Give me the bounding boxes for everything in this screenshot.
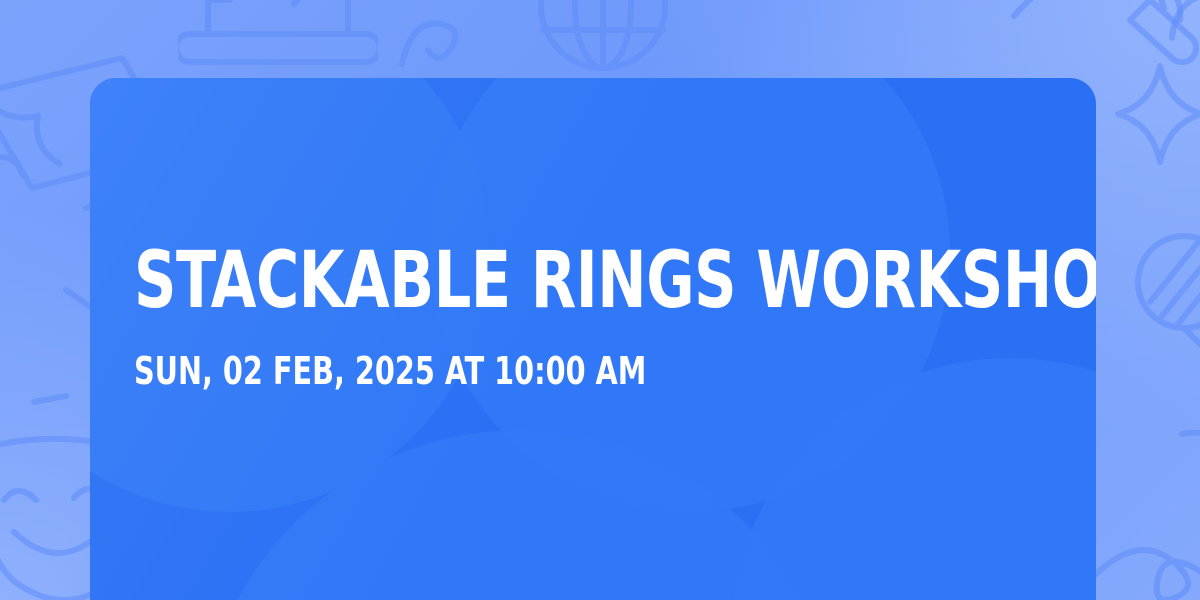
event-banner: STACKABLE RINGS WORKSHOP SUN, 02 FEB, 20…: [0, 0, 1200, 600]
event-card: STACKABLE RINGS WORKSHOP SUN, 02 FEB, 20…: [90, 78, 1096, 600]
sparkle-icon: [1108, 60, 1200, 170]
microphone-icon: [1128, 228, 1200, 408]
paint-palette-icon: [1004, 0, 1200, 74]
globe-icon: [528, 0, 678, 88]
squiggle-icon: [392, 8, 462, 78]
squiggle-icon: [1086, 430, 1200, 600]
laptop-icon: [178, 0, 378, 88]
event-datetime: SUN, 02 FEB, 2025 AT 10:00 AM: [134, 352, 646, 390]
event-title: STACKABLE RINGS WORKSHOP: [134, 244, 1096, 319]
event-card-content: STACKABLE RINGS WORKSHOP SUN, 02 FEB, 20…: [134, 78, 994, 600]
sparkle-icon: [1164, 0, 1200, 56]
